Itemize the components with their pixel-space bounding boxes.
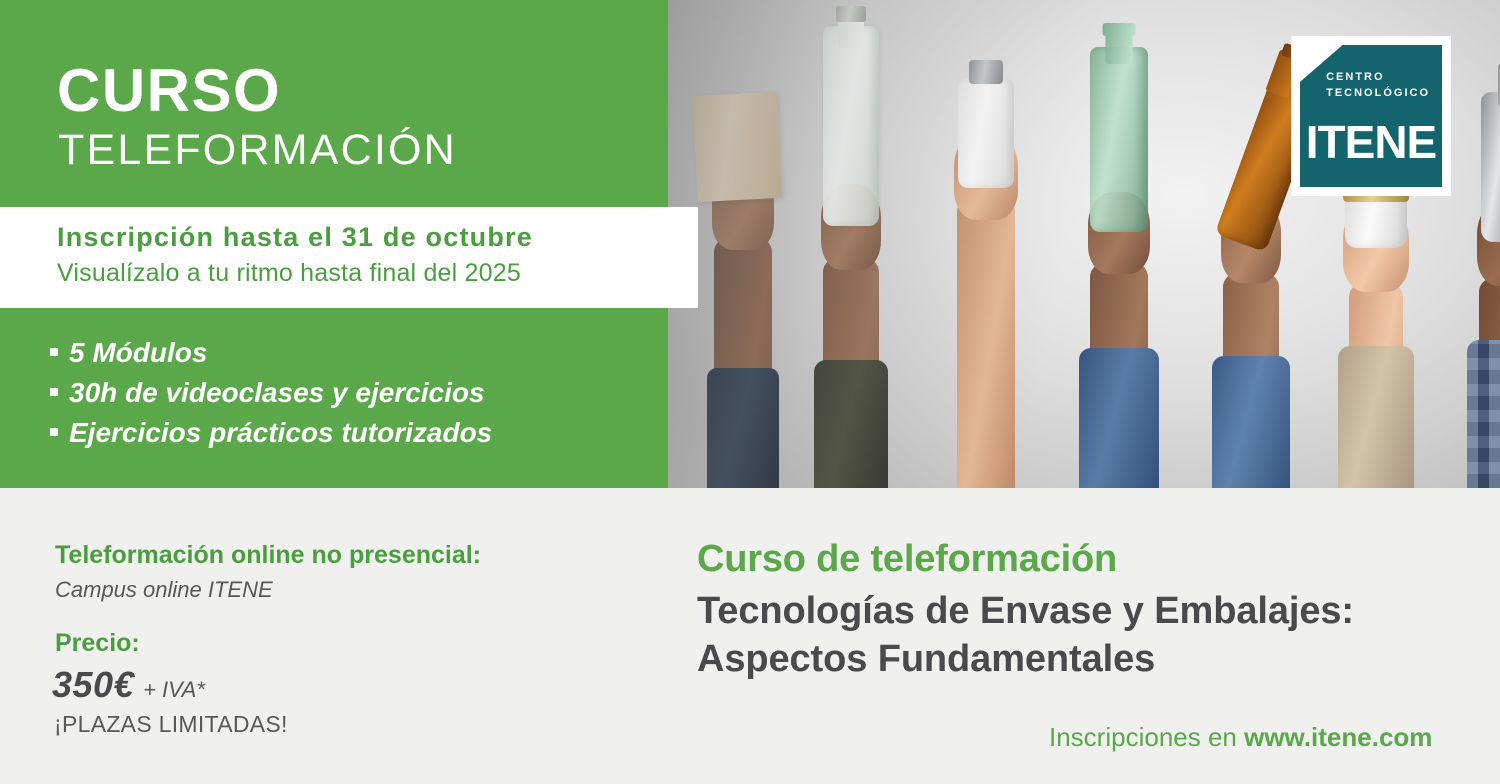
list-item: Ejercicios prácticos tutorizados xyxy=(50,413,492,453)
course-title: Tecnologías de Envase y Embalajes: Aspec… xyxy=(697,588,1354,683)
course-title-line2: Aspectos Fundamentales xyxy=(697,636,1354,684)
feature-label: 30h de videoclases y ejercicios xyxy=(69,373,485,413)
sleeve-plaid xyxy=(1467,340,1500,488)
white-cosmetic-jar xyxy=(1345,196,1407,248)
arm-bare xyxy=(957,198,1015,488)
silver-metal-bottle xyxy=(1481,92,1500,242)
signup-line: Inscripciones en www.itene.com xyxy=(1049,722,1432,753)
green-glass-bottle xyxy=(1090,47,1148,232)
white-plastic-bottle xyxy=(958,78,1014,188)
feature-label: Ejercicios prácticos tutorizados xyxy=(69,413,492,453)
signup-url[interactable]: www.itene.com xyxy=(1244,722,1432,752)
feature-label: 5 Módulos xyxy=(69,333,207,373)
list-item: 5 Módulos xyxy=(50,333,492,373)
price-tax-note: + IVA* xyxy=(143,677,205,703)
feature-list: 5 Módulos 30h de videoclases y ejercicio… xyxy=(50,333,492,453)
bullet-square-icon xyxy=(50,388,58,396)
price-amount: 350€ xyxy=(52,664,134,706)
price-row: 350€ + IVA* xyxy=(52,664,205,706)
signup-prefix: Inscripciones en xyxy=(1049,722,1244,752)
clear-glass-bottle xyxy=(823,26,879,226)
enrollment-deadline: Inscripción hasta el 31 de octubre xyxy=(57,222,533,253)
logo-tagline-line2: TECNOLÓGICO xyxy=(1326,86,1430,102)
itene-logo: CENTRO TECNOLÓGICO ITENE xyxy=(1291,36,1451,196)
sleeve-olive xyxy=(814,360,888,488)
bullet-square-icon xyxy=(50,428,58,436)
logo-tagline: CENTRO TECNOLÓGICO xyxy=(1326,70,1430,102)
limited-seats-note: ¡PLAZAS LIMITADAS! xyxy=(54,711,288,738)
course-kicker: Curso de teleformación xyxy=(697,539,1117,581)
course-title-line1: Tecnologías de Envase y Embalajes: xyxy=(697,588,1354,636)
bottle-cap-metal xyxy=(969,60,1003,84)
sleeve-denim xyxy=(1079,348,1159,488)
bottle-cap xyxy=(836,6,866,22)
bullet-square-icon xyxy=(50,348,58,356)
enrollment-availability: Visualízalo a tu ritmo hasta final del 2… xyxy=(57,259,521,288)
page-modality: TELEFORMACIÓN xyxy=(58,129,457,172)
sleeve-knit-beige xyxy=(1338,346,1414,488)
logo-mark: CENTRO TECNOLÓGICO ITENE xyxy=(1300,45,1442,187)
modality-label: Teleformación online no presencial: xyxy=(55,541,481,570)
price-label: Precio: xyxy=(55,629,140,658)
modality-value: Campus online ITENE xyxy=(55,577,273,603)
page-eyebrow: CURSO xyxy=(57,61,281,121)
logo-wordmark: ITENE xyxy=(1300,115,1442,169)
logo-tagline-line1: CENTRO xyxy=(1326,70,1430,86)
bottle-rim xyxy=(1102,23,1135,36)
list-item: 30h de videoclases y ejercicios xyxy=(50,373,492,413)
promo-banner: CURSO TELEFORMACIÓN Inscripción hasta el… xyxy=(0,0,1500,784)
sleeve-denim xyxy=(1212,356,1290,488)
